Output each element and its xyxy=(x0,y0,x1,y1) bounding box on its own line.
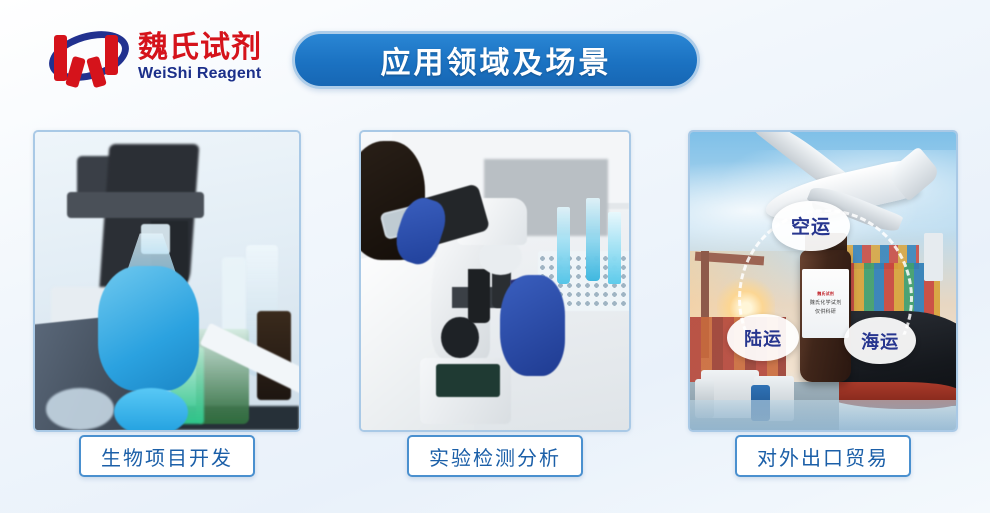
photo-experiment-testing-analysis xyxy=(359,130,631,432)
badge-label: 陆运 xyxy=(744,325,782,351)
bottle-brand-mark: 魏氏试剂 xyxy=(817,291,834,297)
photo-export-trade: 魏氏试剂 魏氏化学试剂 仅供科研 空运 陆运 海运 xyxy=(688,130,958,432)
caption-experiment-testing-analysis: 实验检测分析 xyxy=(407,435,583,477)
application-cards: 生物项目开发 实验检测分析 xyxy=(0,0,990,513)
bottle-label-line1: 魏氏化学试剂 xyxy=(810,299,842,306)
microscope-work-scene-illustration xyxy=(361,132,629,430)
badge-air-freight: 空运 xyxy=(772,201,849,252)
card-export-trade[interactable]: 魏氏试剂 魏氏化学试剂 仅供科研 空运 陆运 海运 对外出口贸易 xyxy=(688,130,958,432)
caption-label: 对外出口贸易 xyxy=(757,442,889,471)
caption-export-trade: 对外出口贸易 xyxy=(735,435,911,477)
caption-label: 实验检测分析 xyxy=(429,442,561,471)
logistics-scene-illustration: 魏氏试剂 魏氏化学试剂 仅供科研 空运 陆运 海运 xyxy=(690,132,956,430)
badge-sea-freight: 海运 xyxy=(844,317,916,365)
caption-label: 生物项目开发 xyxy=(101,442,233,471)
bottle-label: 魏氏试剂 魏氏化学试剂 仅供科研 xyxy=(802,269,849,338)
badge-label: 空运 xyxy=(791,212,831,239)
reagent-bottle: 魏氏试剂 魏氏化学试剂 仅供科研 xyxy=(796,233,855,382)
bottle-label-line2: 仅供科研 xyxy=(815,308,836,315)
card-experiment-testing-analysis[interactable]: 实验检测分析 xyxy=(359,130,631,432)
badge-land-freight: 陆运 xyxy=(727,314,799,362)
badge-label: 海运 xyxy=(861,328,899,354)
card-bio-project-development[interactable]: 生物项目开发 xyxy=(33,130,301,432)
caption-bio-project-development: 生物项目开发 xyxy=(79,435,255,477)
lab-flask-scene-illustration xyxy=(35,132,299,430)
photo-bio-project-development xyxy=(33,130,301,432)
